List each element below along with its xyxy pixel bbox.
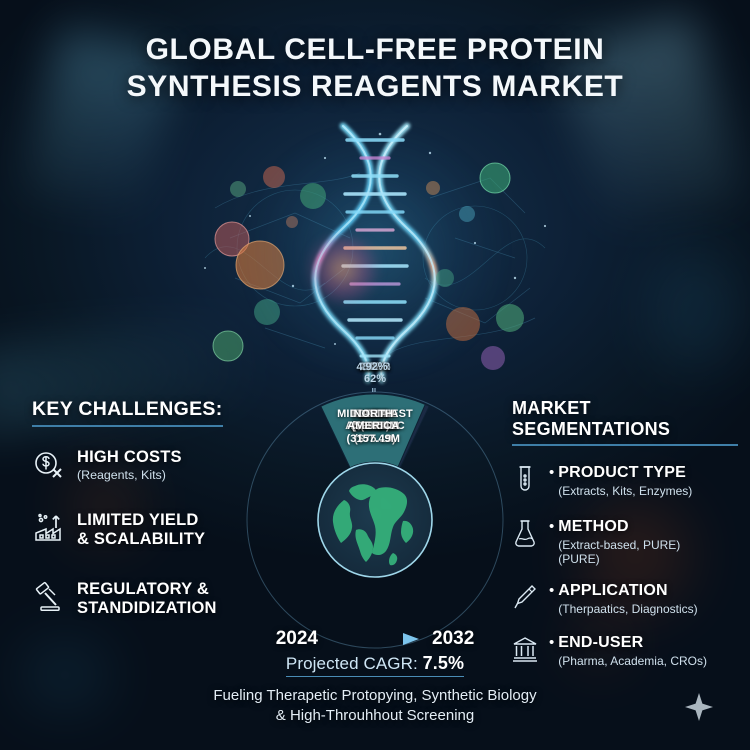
donut-slices <box>321 394 429 468</box>
right-arrow-icon <box>327 632 423 646</box>
gavel-icon <box>32 580 66 614</box>
timeline-section: 2024 2032 Projected CAGR: 7.5% <box>243 628 507 677</box>
tagline-line-2: & High-Throuhhout Screening <box>0 706 750 726</box>
segment-item-method: • METHOD (Extract-based, PURE) (PURE) <box>512 518 738 566</box>
market-segmentations-section: MARKET SEGMENTATIONS • PRODUCT TYPE (Ext… <box>512 398 738 668</box>
challenge-title: HIGH COSTS <box>77 448 182 466</box>
test-tube-icon <box>512 464 538 494</box>
title-line-1: GLOBAL CELL-FREE PROTEIN <box>0 32 750 69</box>
donut-callout-lines <box>373 388 375 392</box>
segment-item-end-user: • END-USER (Pharma, Academia, CROs) <box>512 634 738 668</box>
cagr-label: Projected CAGR: <box>286 654 423 673</box>
challenge-title: LIMITED YIELD & SCALABILITY <box>77 511 205 548</box>
bullet-dot: • <box>549 583 554 598</box>
segment-sub: (Therpaatics, Diagnostics) <box>558 602 697 616</box>
segment-sub: (Extracts, Kits, Enzymes) <box>558 484 692 498</box>
market-segmentations-heading: MARKET SEGMENTATIONS <box>512 398 738 446</box>
sparkle-icon <box>684 692 714 722</box>
flask-icon <box>512 518 538 548</box>
segment-sub: (Extract-based, PURE) (PURE) <box>558 538 680 566</box>
donut-percent-label: 4.92% <box>350 361 394 374</box>
pipette-icon <box>512 582 538 612</box>
segment-title: PRODUCT TYPE <box>558 464 692 482</box>
challenge-item-high-costs: HIGH COSTS (Reagents, Kits) <box>32 448 247 483</box>
title-line-2: SYNTHESIS REAGENTS MARKET <box>0 69 750 106</box>
dollar-no-icon <box>32 448 66 482</box>
challenge-item-regulatory: REGULATORY & STANDIDIZATION <box>32 580 247 617</box>
bullet-dot: • <box>549 465 554 480</box>
segment-item-product-type: • PRODUCT TYPE (Extracts, Kits, Enzymes) <box>512 464 738 498</box>
bullet-dot: • <box>549 519 554 534</box>
infographic-canvas: GLOBAL CELL-FREE PROTEIN SYNTHESIS REAGE… <box>0 0 750 750</box>
timeline-start-year: 2024 <box>276 628 318 650</box>
challenge-item-limited-yield: LIMITED YIELD & SCALABILITY <box>32 511 247 548</box>
page-title: GLOBAL CELL-FREE PROTEIN SYNTHESIS REAGE… <box>0 32 750 105</box>
challenge-sub: (Reagents, Kits) <box>77 468 182 483</box>
segment-title: END-USER <box>558 634 707 652</box>
segment-sub: (Pharma, Academia, CROs) <box>558 654 707 668</box>
tagline: Fueling Therapetic Protopying, Synthetic… <box>0 686 750 726</box>
donut-svg <box>243 388 507 652</box>
bank-icon <box>512 634 538 664</box>
donut-slice[interactable] <box>321 394 425 468</box>
dna-center-glow <box>303 234 383 304</box>
segment-title: METHOD <box>558 518 680 536</box>
factory-icon <box>32 511 66 545</box>
dna-illustration <box>175 118 575 386</box>
tagline-line-1: Fueling Therapetic Protopying, Synthetic… <box>0 686 750 706</box>
bullet-dot: • <box>549 635 554 650</box>
key-challenges-section: KEY CHALLENGES: HIGH COSTS (Reagents, Ki… <box>32 398 247 617</box>
bokeh-glow <box>650 250 740 370</box>
projected-cagr: Projected CAGR: 7.5% <box>286 653 464 677</box>
key-challenges-heading: KEY CHALLENGES: <box>32 398 223 427</box>
segment-item-application: • APPLICATION (Therpaatics, Diagnostics) <box>512 582 738 616</box>
regional-donut-chart: EUROPE($37.69MASIA($99.54MLATIN($6.63MMI… <box>243 388 507 652</box>
challenge-title: REGULATORY & STANDIDIZATION <box>77 580 217 617</box>
cagr-value: 7.5% <box>423 653 464 673</box>
timeline-end-year: 2032 <box>432 628 474 650</box>
segment-title: APPLICATION <box>558 582 697 600</box>
